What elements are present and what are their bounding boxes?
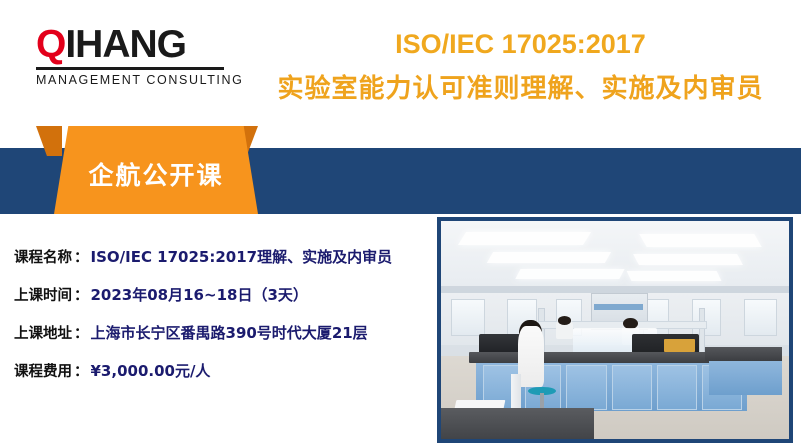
info-colon: ： (72, 322, 91, 343)
info-value: 上海市长宁区番禺路390号时代大厦21层 (91, 322, 368, 343)
info-label: 课程名称 (14, 246, 72, 267)
info-value: 2023年08月16~18日（3天） (91, 284, 308, 305)
ribbon-fold-left (36, 126, 62, 156)
photo-window (692, 299, 722, 336)
info-row-course-name: 课程名称 ： ISO/IEC 17025:2017理解、实施及内审员 (14, 246, 434, 267)
photo-right-bench-top (705, 347, 782, 360)
laboratory-photo-frame (437, 217, 793, 443)
photo-foreground-table (441, 408, 594, 439)
info-colon: ： (72, 246, 91, 267)
laboratory-photo (441, 221, 789, 439)
course-subtitle: 实验室能力认可准则理解、实施及内审员 (240, 72, 801, 106)
photo-ceiling-edge (441, 286, 789, 293)
ribbon-label: 企航公开课 (88, 148, 223, 192)
photo-ceiling-panel (627, 271, 722, 281)
brand-tagline: MANAGEMENT CONSULTING (36, 73, 224, 87)
info-label: 上课地址 (14, 322, 72, 343)
headline-block: ISO/IEC 17025:2017 实验室能力认可准则理解、实施及内审员 (240, 28, 801, 106)
photo-ceiling-panel (515, 269, 625, 279)
course-info-list: 课程名称 ： ISO/IEC 17025:2017理解、实施及内审员 上课时间 … (14, 246, 434, 398)
photo-right-bench-body (709, 361, 782, 396)
photo-shelf-post (699, 308, 705, 358)
photo-instrument-panel (664, 339, 695, 352)
standard-title: ISO/IEC 17025:2017 (240, 28, 801, 60)
photo-bench-door (657, 365, 697, 411)
ribbon-banner: 企航公开课 (36, 126, 266, 214)
brand-wordmark: QIHANG (36, 24, 236, 66)
photo-cabinet-strip (594, 304, 643, 311)
info-value: ¥3,000.00元/人 (91, 360, 211, 381)
info-colon: ： (72, 360, 91, 381)
photo-person-hair (558, 316, 571, 325)
info-row-course-time: 上课时间 ： 2023年08月16~18日（3天） (14, 284, 434, 305)
photo-ceiling-panel (639, 234, 761, 247)
brand-initial: Q (36, 23, 65, 66)
info-label: 上课时间 (14, 284, 72, 305)
info-row-course-fee: 课程费用 ： ¥3,000.00元/人 (14, 360, 434, 381)
info-row-course-address: 上课地址 ： 上海市长宁区番禺路390号时代大厦21层 (14, 322, 434, 343)
photo-window (744, 299, 777, 336)
brand-divider (36, 67, 224, 70)
info-colon: ： (72, 284, 91, 305)
photo-ceiling-panel (487, 252, 612, 263)
poster-root: QIHANG MANAGEMENT CONSULTING ISO/IEC 170… (0, 0, 801, 447)
photo-bench-door (612, 365, 652, 411)
photo-window (451, 299, 484, 336)
photo-ceiling-panel (633, 254, 743, 265)
ribbon-body: 企航公开课 (54, 126, 258, 214)
info-label: 课程费用 (14, 360, 72, 381)
photo-bench-door (566, 365, 606, 411)
brand-name-rest: IHANG (65, 23, 186, 66)
info-value: ISO/IEC 17025:2017理解、实施及内审员 (91, 246, 393, 267)
brand-logo: QIHANG MANAGEMENT CONSULTING (36, 24, 236, 87)
photo-ceiling-panel (458, 232, 591, 245)
photo-person-foreground (518, 326, 544, 387)
